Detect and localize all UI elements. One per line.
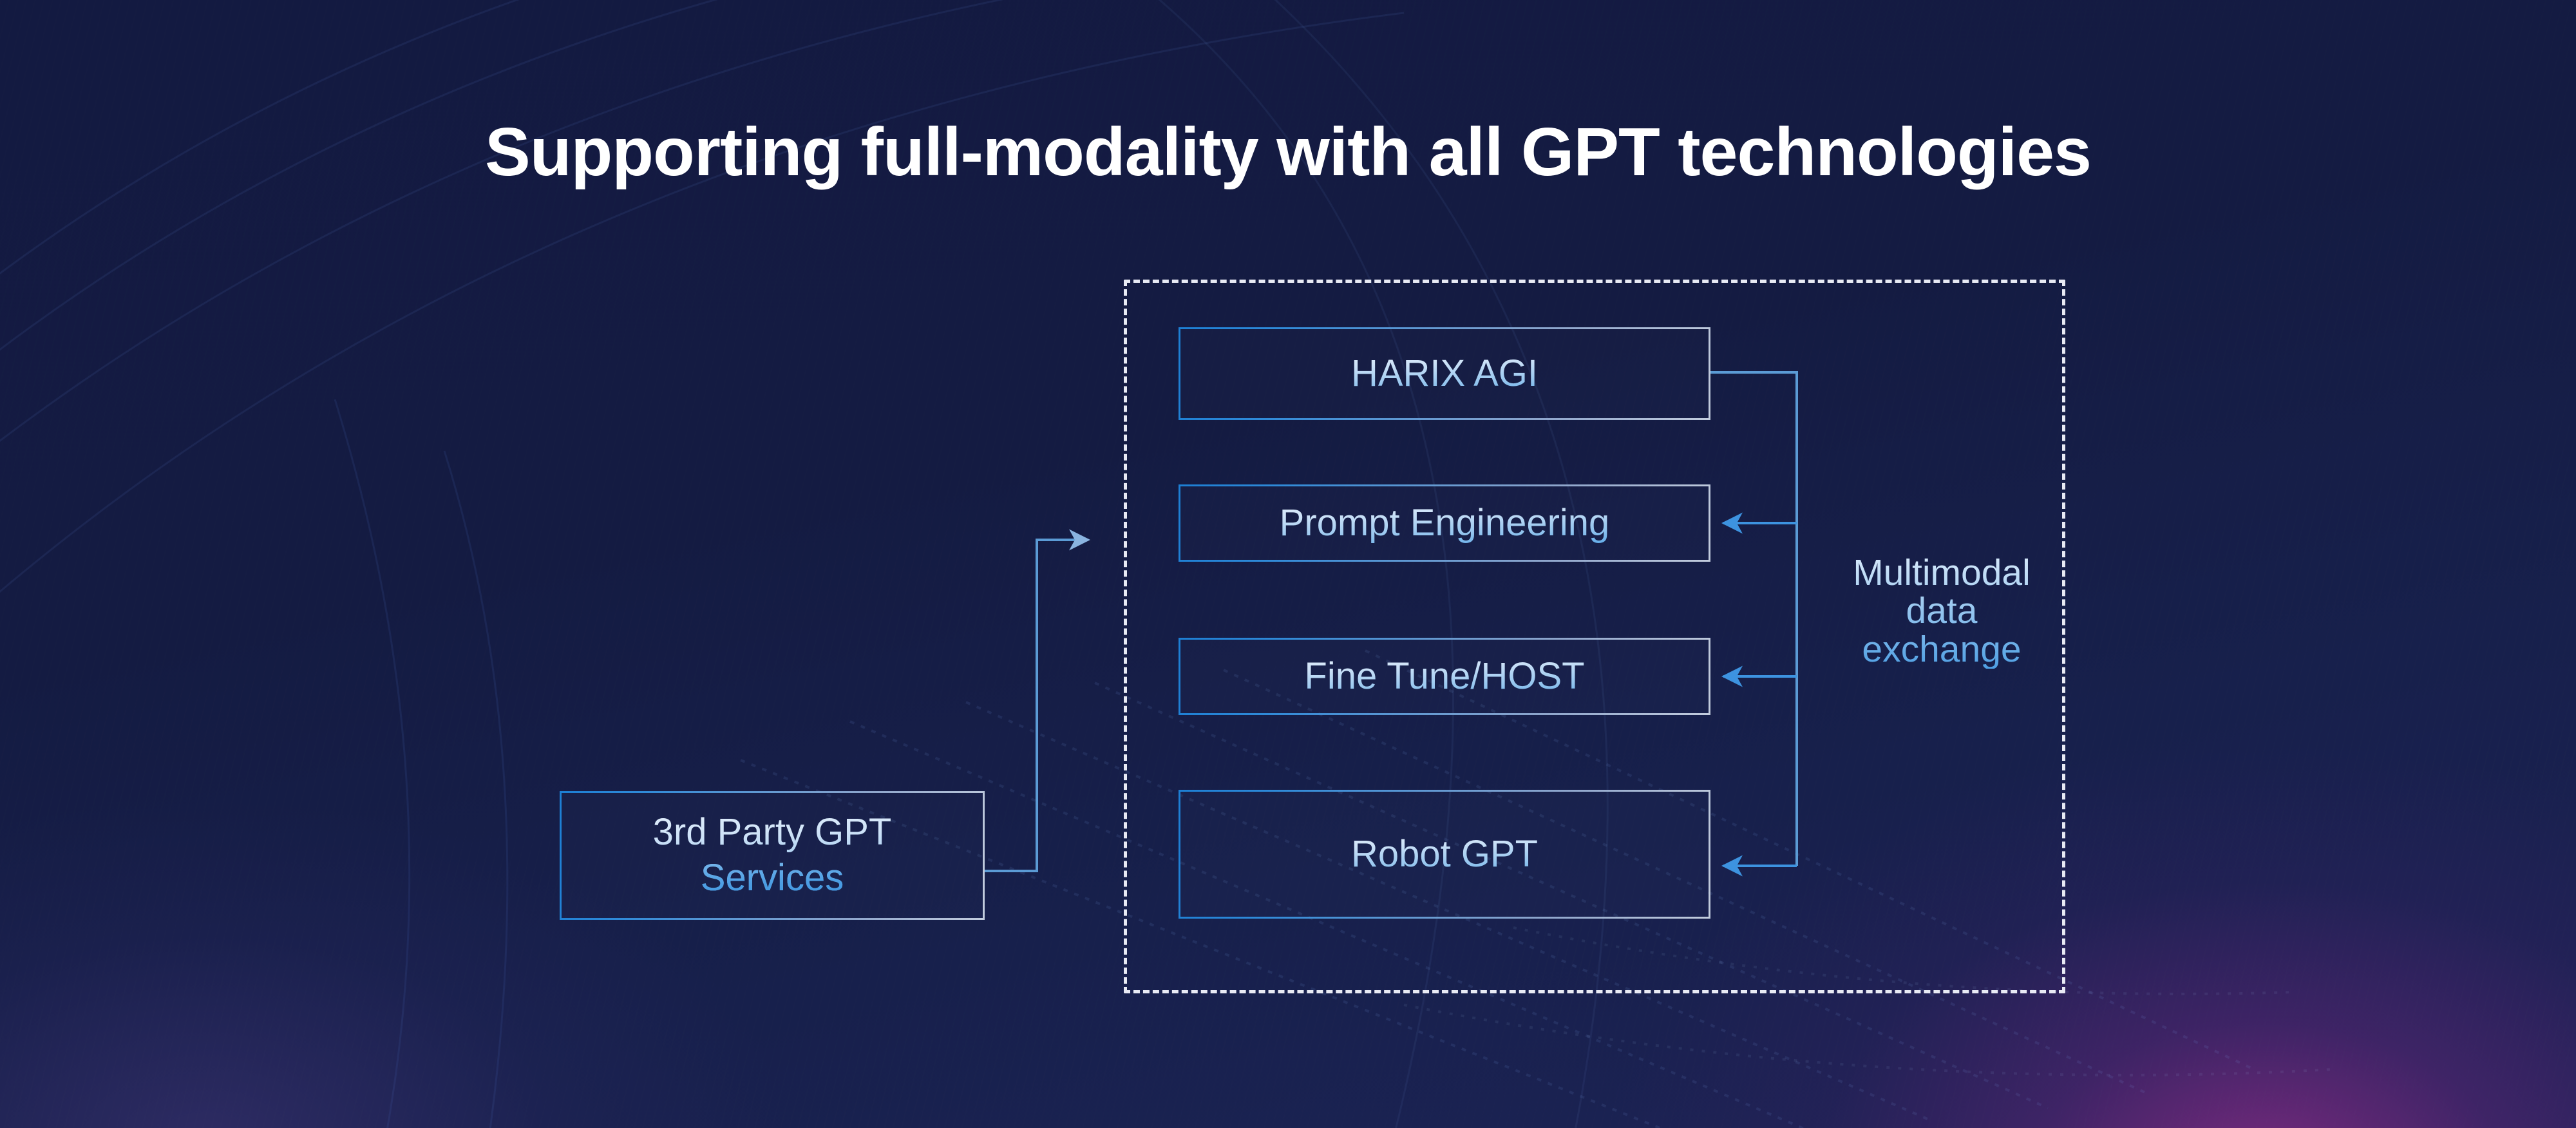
- module-box-robot-gpt[interactable]: Robot GPT: [1179, 790, 1710, 919]
- module-box-fine-tune-host[interactable]: Fine Tune/HOST: [1179, 638, 1710, 715]
- module-label-prompt-engineering: Prompt Engineering: [1273, 501, 1616, 546]
- third-party-label-line2: Services: [701, 857, 844, 899]
- module-label-robot-gpt: Robot GPT: [1345, 832, 1544, 877]
- multimodal-data-exchange-caption: Multimodal data exchange: [1816, 554, 2067, 669]
- slide-canvas: Supporting full-modality with all GPT te…: [0, 0, 2576, 1128]
- module-box-third-party-gpt-services[interactable]: 3rd Party GPT Services: [560, 791, 985, 920]
- caption-line1: Multimodal: [1853, 552, 2031, 593]
- module-label-third-party-gpt-services: 3rd Party GPT Services: [647, 810, 898, 901]
- third-party-label-line1: 3rd Party GPT: [653, 811, 892, 853]
- module-label-harix-agi: HARIX AGI: [1345, 351, 1544, 397]
- module-label-fine-tune-host: Fine Tune/HOST: [1298, 654, 1591, 700]
- module-box-harix-agi[interactable]: HARIX AGI: [1179, 327, 1710, 420]
- caption-line2: data: [1906, 590, 1978, 631]
- module-box-prompt-engineering[interactable]: Prompt Engineering: [1179, 484, 1710, 562]
- page-title: Supporting full-modality with all GPT te…: [0, 115, 2576, 190]
- caption-line3: exchange: [1862, 629, 2021, 670]
